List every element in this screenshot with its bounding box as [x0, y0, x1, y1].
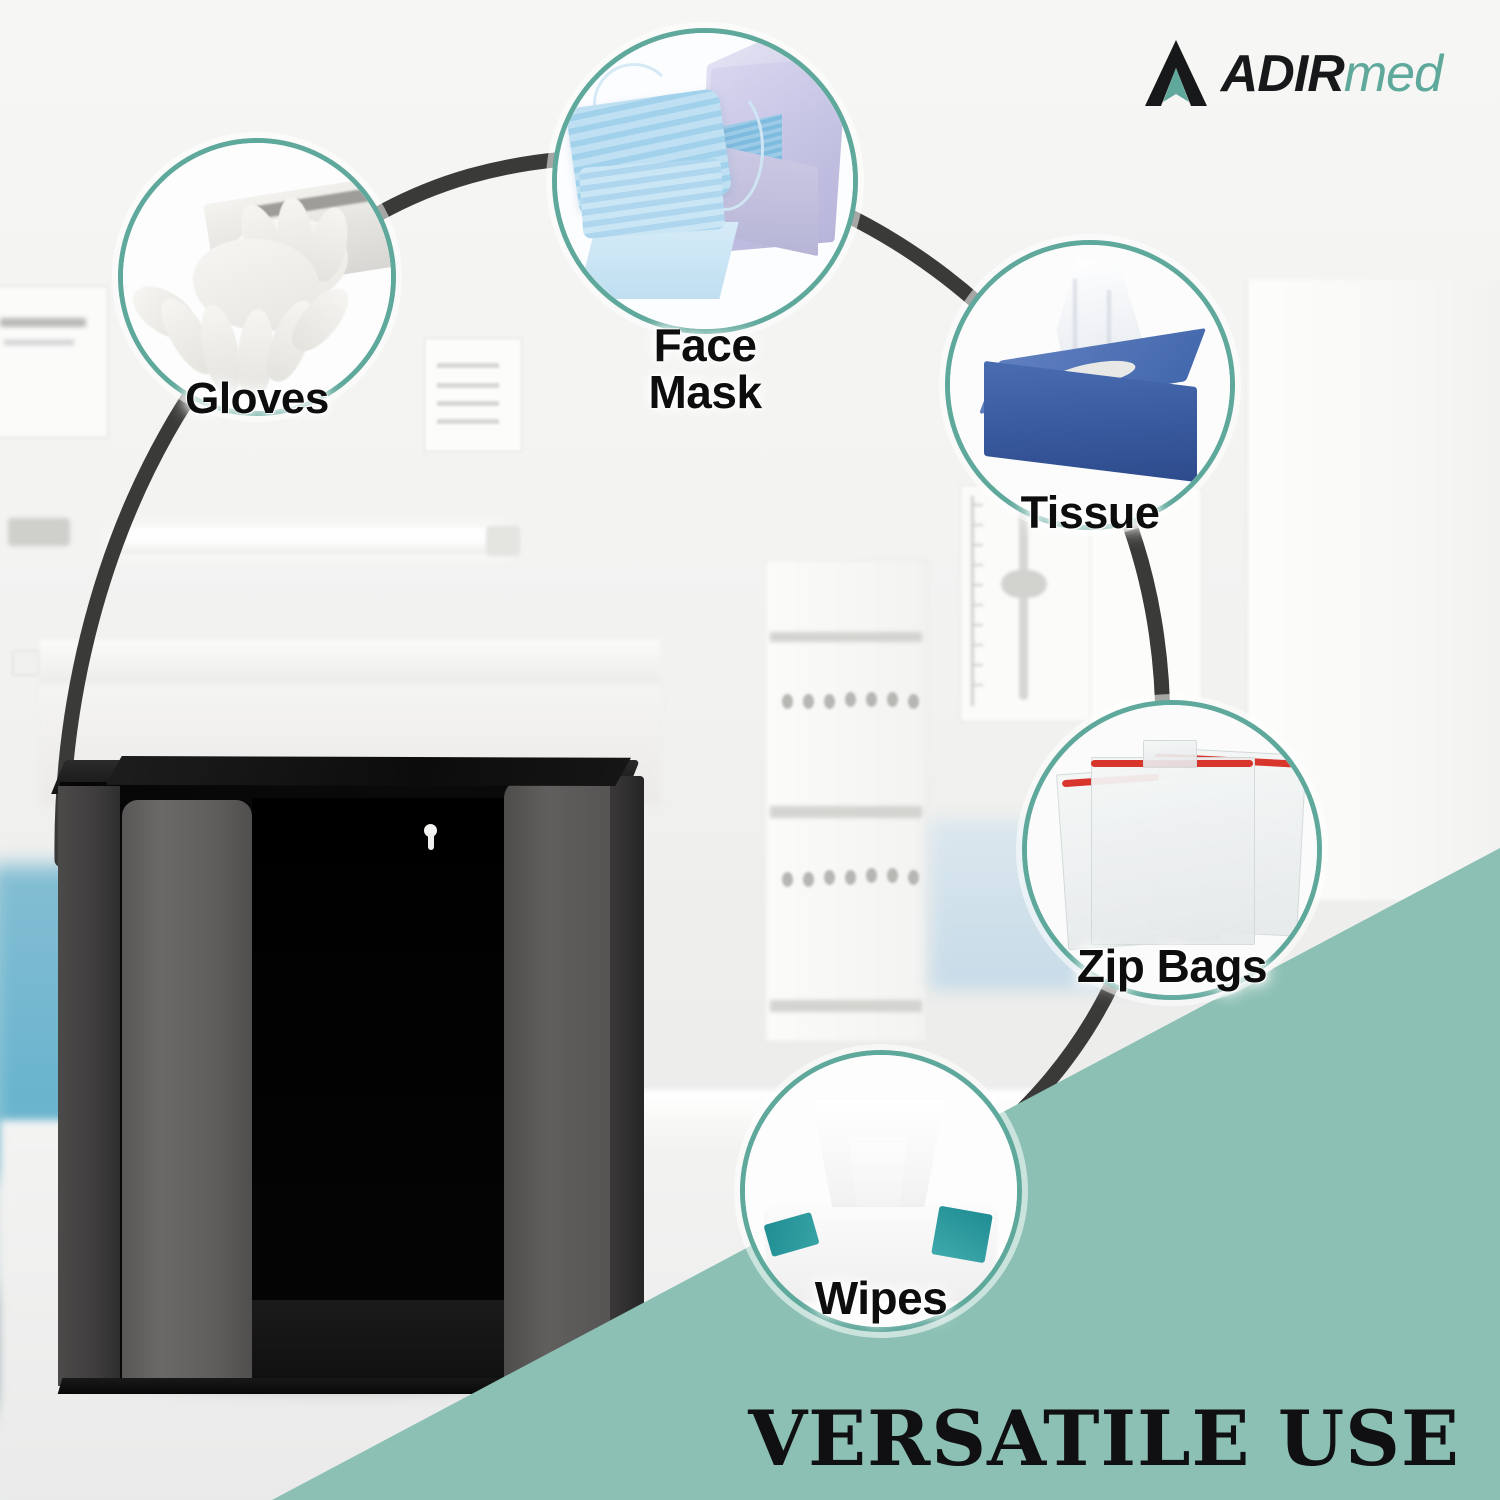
callout-gloves[interactable]: Gloves — [118, 138, 396, 416]
adirmed-arrow-logo-icon — [1143, 38, 1209, 110]
callout-label-tissue: Tissue — [1021, 490, 1160, 536]
banner-headline: VERSATILE USE — [0, 1394, 1460, 1483]
callout-label-zip-bags: Zip Bags — [1077, 943, 1267, 990]
zip-bag-tab — [1143, 740, 1197, 768]
callout-wipes[interactable]: Wipes — [740, 1050, 1022, 1332]
product-front-lip — [252, 1300, 506, 1378]
callout-label-face-mask: Face Mask — [648, 322, 761, 416]
callout-ring-face-mask — [552, 28, 858, 334]
product-left-panel — [122, 800, 252, 1390]
face-mask-photo — [557, 33, 853, 329]
callout-label-wipes: Wipes — [815, 1275, 948, 1322]
product-base-edge — [58, 1378, 647, 1394]
product-interior — [252, 798, 506, 1358]
callout-label-gloves: Gloves — [185, 377, 329, 422]
brand-logo: ADIRmed — [1143, 38, 1442, 110]
brand-wordmark: ADIRmed — [1221, 44, 1442, 104]
product-right-side — [610, 776, 644, 1388]
product-right-panel — [504, 780, 614, 1388]
brand-wordmark-primary: ADIR — [1221, 45, 1344, 103]
zip-bag-front — [1091, 757, 1255, 945]
keyhole-mount-icon — [424, 824, 437, 850]
product-dispenser — [48, 752, 668, 1402]
brand-wordmark-secondary: med — [1344, 45, 1442, 103]
product-top-face — [106, 756, 631, 786]
gloves-photo — [123, 143, 391, 411]
callout-label-line-1: Face — [648, 322, 761, 369]
tissue-photo — [950, 245, 1230, 525]
callout-zip-bags[interactable]: Zip Bags — [1022, 700, 1322, 1000]
wipes-label-right — [932, 1206, 994, 1264]
mask-secondary — [578, 158, 725, 239]
product-left-side — [58, 786, 120, 1386]
callout-face-mask[interactable]: Face Mask — [552, 28, 858, 334]
callout-label-line-2: Mask — [648, 369, 761, 416]
product-marketing-image: Gloves Face Mask — [0, 0, 1500, 1500]
callout-tissue[interactable]: Tissue — [945, 240, 1235, 530]
